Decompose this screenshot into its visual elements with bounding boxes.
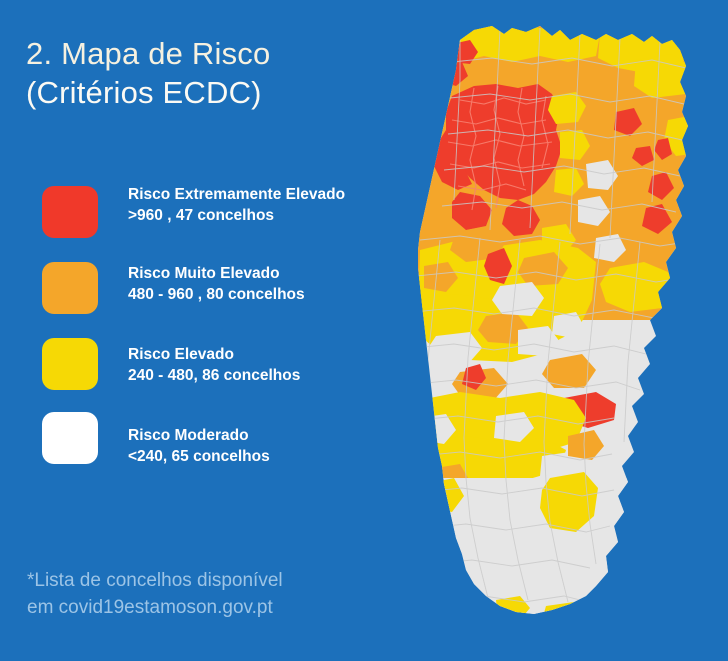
legend-range: <240, 65 concelhos — [128, 446, 270, 467]
legend-range: 240 - 480, 86 concelhos — [128, 365, 300, 386]
page-title: 2. Mapa de Risco (Critérios ECDC) — [26, 34, 446, 112]
portugal-map-svg — [400, 0, 728, 661]
legend-text-extremely-high: Risco Extremamente Elevado >960 , 47 con… — [128, 184, 345, 226]
legend-label: Risco Muito Elevado — [128, 263, 305, 284]
legend-label: Risco Extremamente Elevado — [128, 184, 345, 205]
footnote-line-1: *Lista de concelhos disponível — [27, 567, 407, 594]
legend-label: Risco Elevado — [128, 344, 300, 365]
legend-swatch-extremely-high — [42, 186, 98, 238]
portugal-risk-map — [400, 0, 728, 661]
legend-text-very-high: Risco Muito Elevado 480 - 960 , 80 conce… — [128, 263, 305, 305]
map-regions — [400, 0, 728, 661]
title-line-2: (Critérios ECDC) — [26, 73, 446, 112]
legend-text-high: Risco Elevado 240 - 480, 86 concelhos — [128, 344, 300, 386]
legend-range: 480 - 960 , 80 concelhos — [128, 284, 305, 305]
risk-legend: Risco Extremamente Elevado >960 , 47 con… — [42, 182, 422, 492]
footnote-line-2: em covid19estamoson.gov.pt — [27, 594, 407, 621]
legend-label: Risco Moderado — [128, 425, 270, 446]
legend-text-moderate: Risco Moderado <240, 65 concelhos — [128, 425, 270, 467]
title-line-1: 2. Mapa de Risco — [26, 34, 446, 73]
legend-swatch-moderate — [42, 412, 98, 464]
legend-swatch-very-high — [42, 262, 98, 314]
footnote: *Lista de concelhos disponível em covid1… — [27, 567, 407, 621]
legend-range: >960 , 47 concelhos — [128, 205, 345, 226]
infographic-page: 2. Mapa de Risco (Critérios ECDC) Risco … — [0, 0, 728, 661]
legend-swatch-high — [42, 338, 98, 390]
